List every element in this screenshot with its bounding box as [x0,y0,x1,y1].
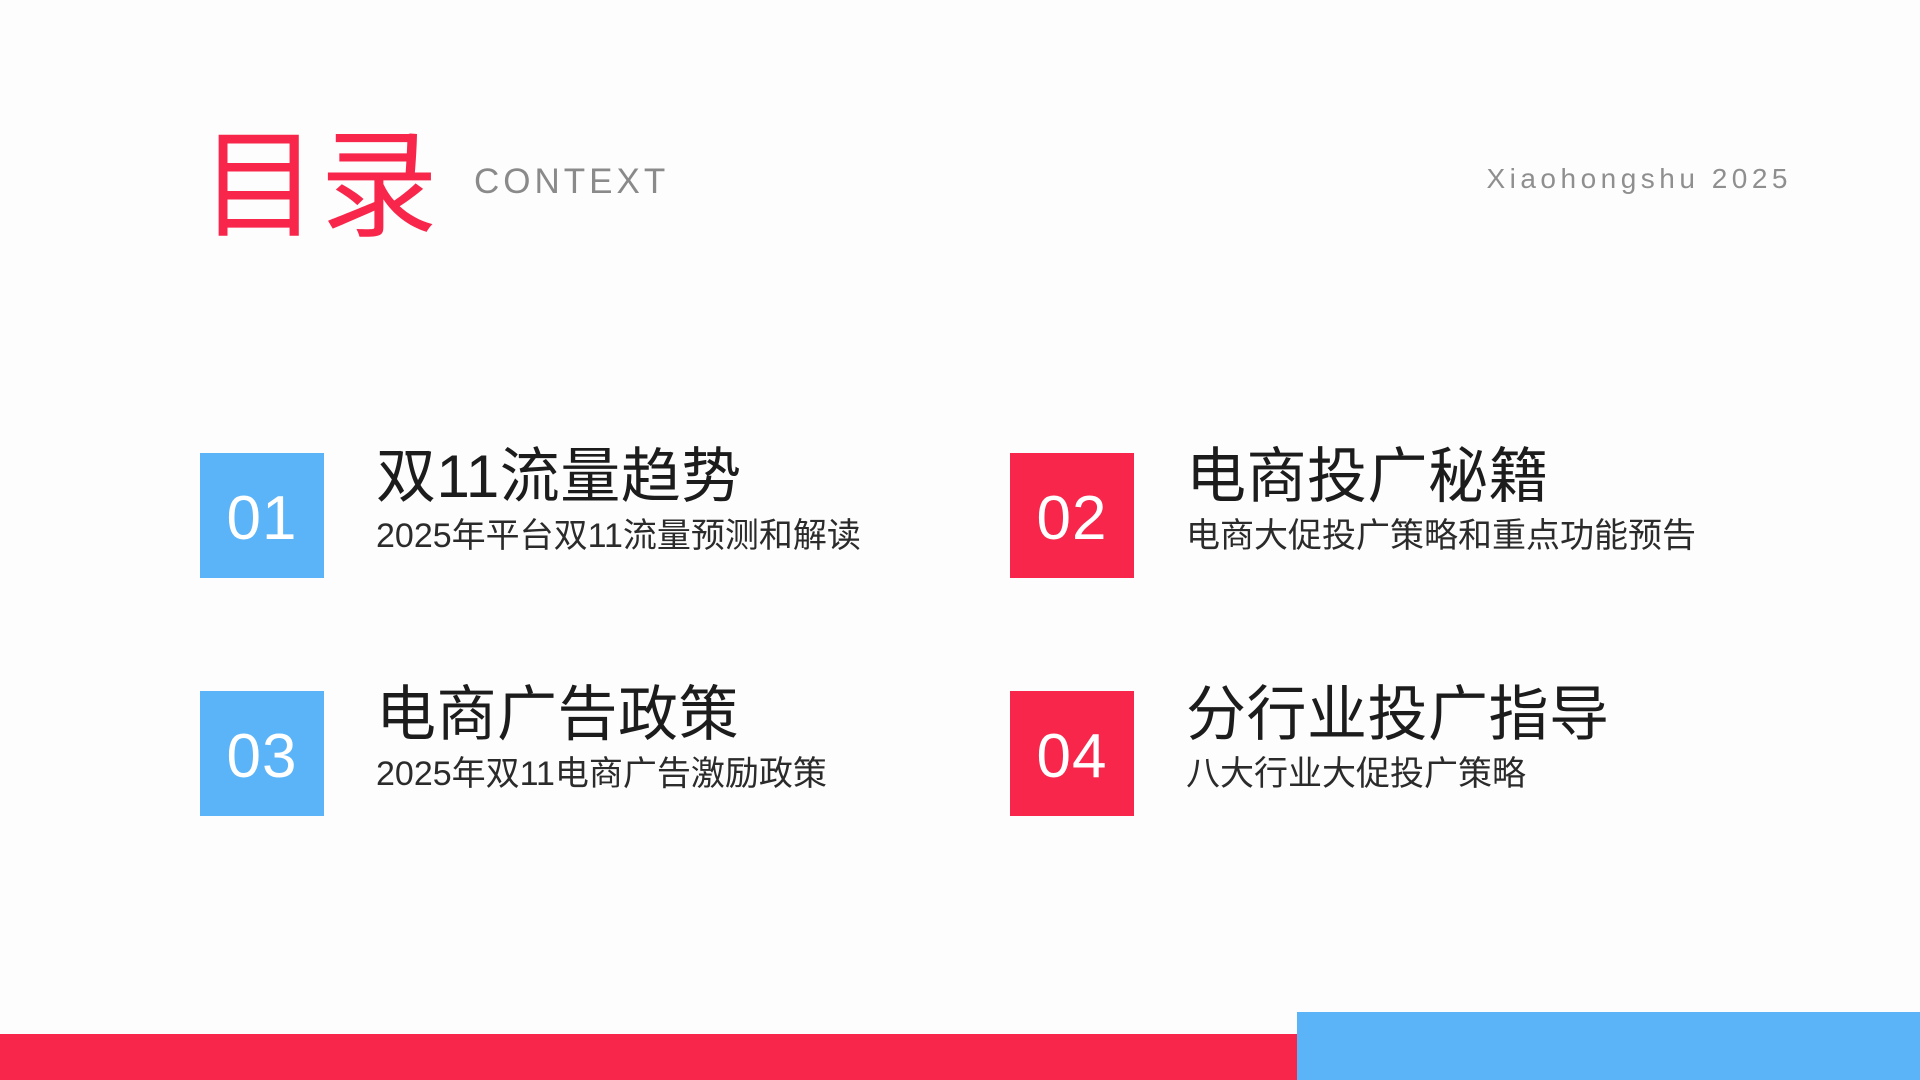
toc-item-title: 分行业投广指导 [1186,683,1610,748]
list-item[interactable]: 03 电商广告政策 2025年双11电商广告激励政策 [200,683,1010,921]
toc-number-badge: 01 [200,453,324,578]
toc-item-title: 双11流量趋势 [376,445,861,510]
toc-item-subtitle: 电商大促投广策略和重点功能预告 [1186,516,1696,557]
list-item[interactable]: 02 电商投广秘籍 电商大促投广策略和重点功能预告 [1010,445,1820,683]
list-item[interactable]: 01 双11流量趋势 2025年平台双11流量预测和解读 [200,445,1010,683]
toc-item-subtitle: 八大行业大促投广策略 [1186,754,1610,795]
page-title: 目录 CONTEXT [200,128,669,246]
page-title-chinese: 目录 [200,128,440,246]
page-title-english: CONTEXT [474,162,669,202]
toc-number-label: 04 [1037,726,1108,788]
toc-item-title: 电商广告政策 [376,683,827,748]
header-brand-year: Xiaohongshu 2025 [1486,163,1792,195]
toc-item-title: 电商投广秘籍 [1186,445,1696,510]
slide-canvas: 目录 CONTEXT Xiaohongshu 2025 01 双11流量趋势 2… [0,0,1920,1080]
slide-header: 目录 CONTEXT Xiaohongshu 2025 [0,0,1920,300]
toc-list: 01 双11流量趋势 2025年平台双11流量预测和解读 02 电商投广秘籍 电… [200,445,1840,921]
list-item[interactable]: 04 分行业投广指导 八大行业大促投广策略 [1010,683,1820,921]
toc-number-label: 02 [1037,488,1108,550]
toc-number-label: 03 [227,726,298,788]
toc-item-subtitle: 2025年平台双11流量预测和解读 [376,516,861,557]
toc-number-badge: 03 [200,691,324,816]
toc-number-badge: 02 [1010,453,1134,578]
footer-bar-red [0,1034,1330,1080]
toc-item-text: 电商投广秘籍 电商大促投广策略和重点功能预告 [1186,445,1696,557]
toc-number-badge: 04 [1010,691,1134,816]
toc-item-subtitle: 2025年双11电商广告激励政策 [376,754,827,795]
toc-item-text: 分行业投广指导 八大行业大促投广策略 [1186,683,1610,795]
toc-item-text: 电商广告政策 2025年双11电商广告激励政策 [376,683,827,795]
footer-bar-blue [1297,1012,1920,1080]
toc-number-label: 01 [227,488,298,550]
toc-item-text: 双11流量趋势 2025年平台双11流量预测和解读 [376,445,861,557]
